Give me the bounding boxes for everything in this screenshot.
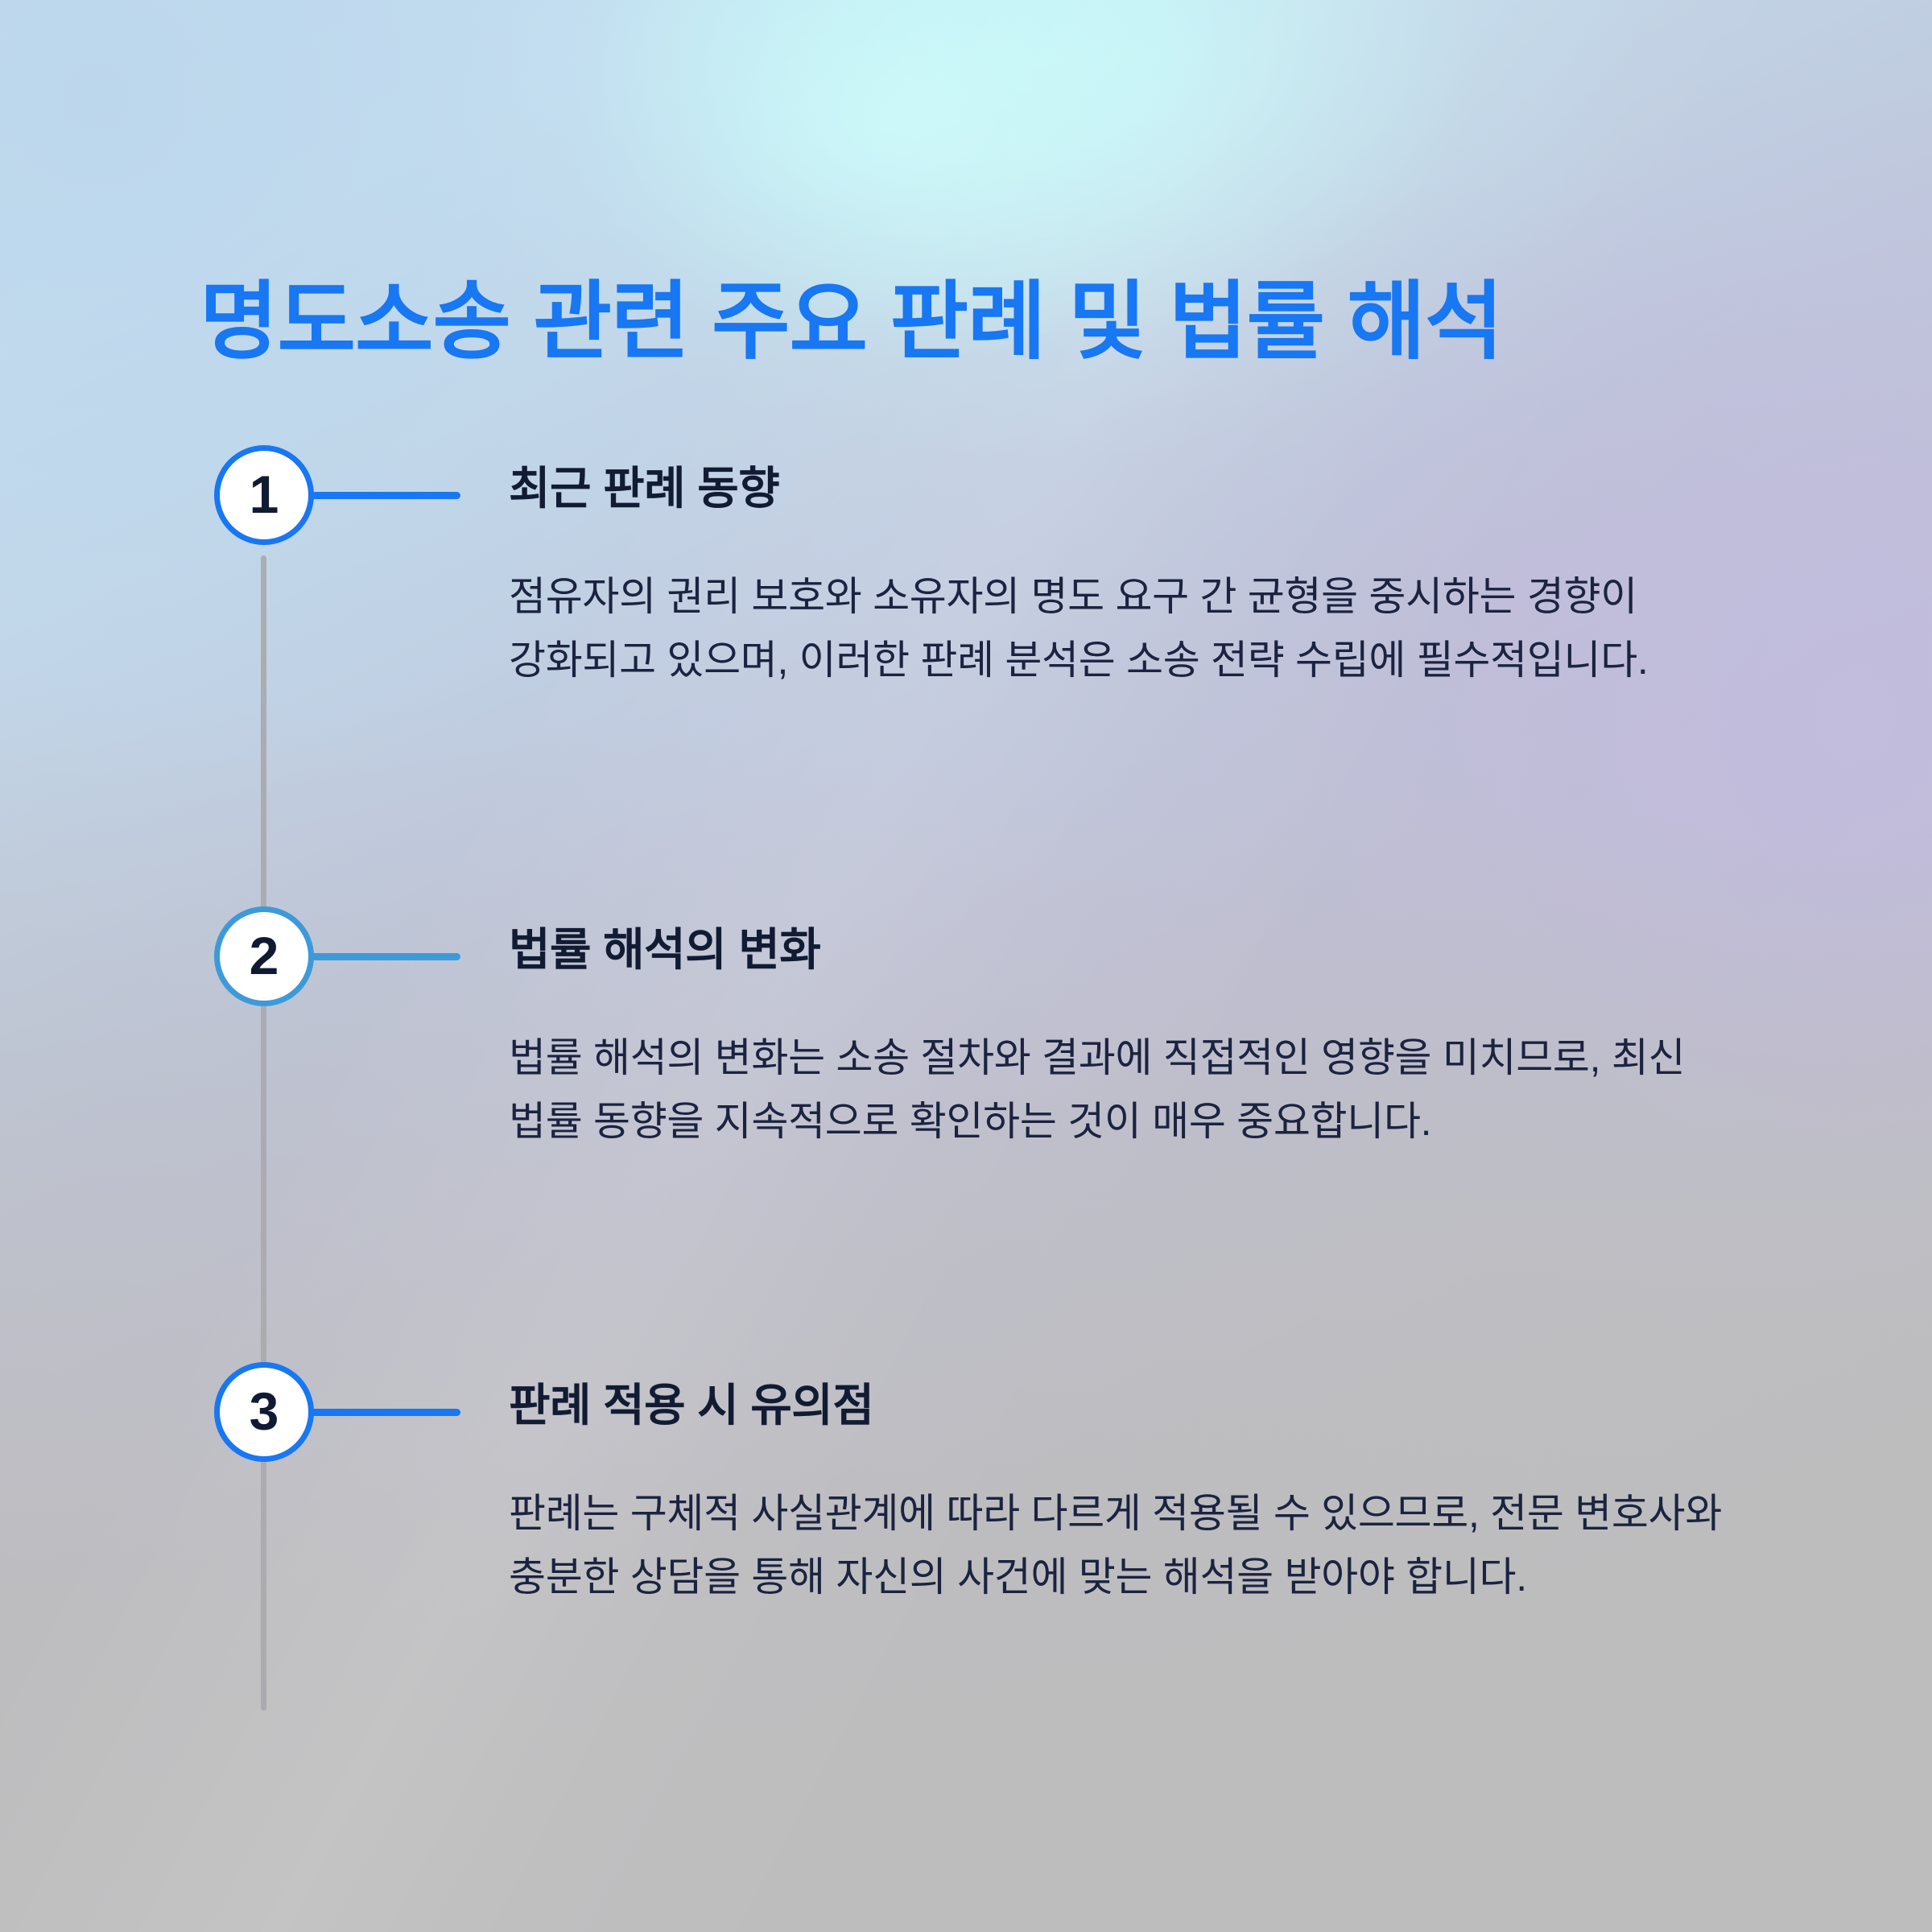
timeline-connector-3 (311, 1409, 460, 1416)
infographic-poster: 명도소송 관련 주요 판례 및 법률 해석 1 최근 판례 동향 점유자의 권리… (0, 0, 1932, 1932)
timeline-marker-number-3: 3 (250, 1385, 279, 1438)
timeline-marker-number-2: 2 (250, 929, 279, 982)
timeline-body-1: 점유자의 권리 보호와 소유자의 명도 요구 간 균형을 중시하는 경향이 강화… (509, 565, 1728, 692)
timeline-body-3: 판례는 구체적 사실관계에 따라 다르게 적용될 수 있으므로, 전문 변호사와… (509, 1482, 1728, 1609)
timeline-marker-1[interactable]: 1 (214, 445, 314, 545)
timeline-connector-1 (311, 492, 460, 499)
timeline-marker-3[interactable]: 3 (214, 1362, 314, 1462)
timeline-heading-3: 판례 적용 시 유의점 (509, 1383, 873, 1428)
timeline-vertical-rail (261, 555, 266, 1711)
timeline-marker-2[interactable]: 2 (214, 906, 314, 1006)
page-title: 명도소송 관련 주요 판례 및 법률 해석 (200, 273, 1503, 372)
timeline-heading-2: 법률 해석의 변화 (509, 927, 820, 972)
poster-content: 명도소송 관련 주요 판례 및 법률 해석 1 최근 판례 동향 점유자의 권리… (0, 0, 1932, 1932)
timeline-body-2: 법률 해석의 변화는 소송 절차와 결과에 직접적인 영향을 미치므로, 최신 … (509, 1026, 1728, 1154)
timeline-marker-number-1: 1 (250, 468, 279, 521)
timeline-connector-2 (311, 953, 460, 960)
timeline-heading-1: 최근 판례 동향 (509, 466, 779, 511)
